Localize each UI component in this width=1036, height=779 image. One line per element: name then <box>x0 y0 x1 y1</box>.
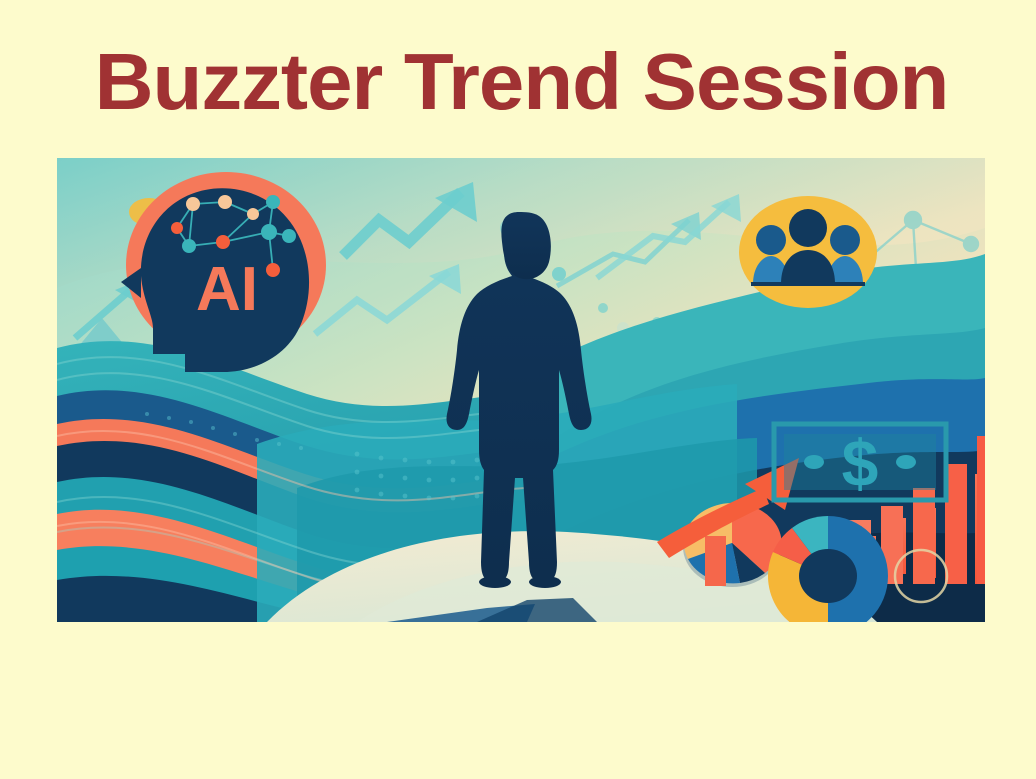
hero-illustration-svg: AI <box>57 158 985 622</box>
title-bar: Buzzter Trend Session <box>57 36 985 128</box>
poster-canvas: Buzzter Trend Session <box>0 0 1036 779</box>
page-title: Buzzter Trend Session <box>94 38 948 126</box>
hero-illustration: AI <box>57 158 985 622</box>
grain-overlay <box>57 158 985 622</box>
